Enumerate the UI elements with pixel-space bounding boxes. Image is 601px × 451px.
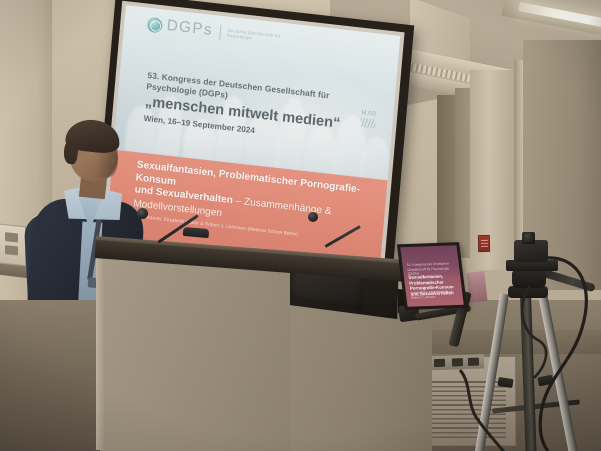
confidence-monitor-authors: André Körner, Elisabeth Müller & Robert … — [410, 289, 459, 299]
lectern-left-edge — [96, 250, 104, 450]
dgps-circle-mark-icon — [147, 16, 163, 33]
photo-scene: DGPs Deutsche Gesellschaft für Psycholog… — [0, 0, 601, 451]
microphone-capsule-icon — [137, 208, 148, 219]
confidence-monitor-assembly: 53. Kongress der Deutschen Gesellschaft … — [397, 243, 475, 319]
tripod-fluid-head[interactable] — [512, 270, 546, 288]
tripod-center-column — [520, 294, 537, 451]
confidence-monitor[interactable]: 53. Kongress der Deutschen Gesellschaft … — [397, 242, 467, 310]
logo-divider — [219, 24, 221, 39]
confidence-monitor-screen: 53. Kongress der Deutschen Gesellschaft … — [400, 245, 463, 307]
power-cable — [452, 368, 512, 451]
microphone-capsule-icon — [308, 212, 318, 222]
tripod-leg-lock[interactable] — [537, 375, 553, 387]
tripod-leg — [538, 293, 580, 451]
lectern-front-panel — [100, 252, 290, 451]
camera-lens-icon — [522, 232, 535, 244]
wall-outlet-plate[interactable] — [0, 224, 26, 267]
doorway — [437, 95, 457, 260]
